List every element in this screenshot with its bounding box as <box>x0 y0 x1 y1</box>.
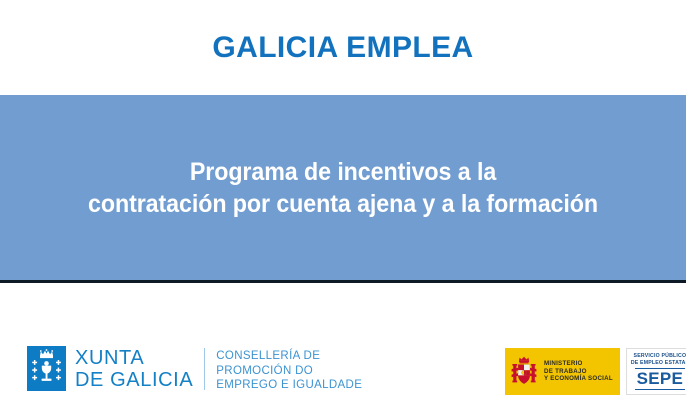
conselleria-line-3: EMPREGO E IGUALDADE <box>216 378 362 393</box>
xunta-wordmark-line-1: XUNTA <box>75 348 193 368</box>
spain-coat-of-arms-icon <box>510 355 538 389</box>
xunta-de-galicia-logo: XUNTA DE GALICIA CONSELLERÍA DE PROMOCIÓ… <box>27 346 362 393</box>
ministerio-line-1: MINISTERIO <box>544 360 613 368</box>
conselleria-line-1: CONSELLERÍA DE <box>216 349 362 364</box>
sepe-logo: SERVICIO PÚBLICO DE EMPLEO ESTATAL SEPE <box>626 348 686 395</box>
banner-text-block: Programa de incentivos a la contratación… <box>24 156 662 220</box>
sepe-subtitle-line-1: SERVICIO PÚBLICO <box>631 353 686 359</box>
xunta-wordmark-line-2: DE GALICIA <box>75 370 193 390</box>
conselleria-line-2: PROMOCIÓN DO <box>216 364 362 379</box>
government-logos: MINISTERIO DE TRABAJO Y ECONOMÍA SOCIAL … <box>505 348 686 395</box>
galicia-coat-of-arms-icon <box>27 346 66 391</box>
ministerio-line-3: Y ECONOMÍA SOCIAL <box>544 375 613 383</box>
page-header: GALICIA EMPLEA <box>0 0 686 95</box>
page-title: GALICIA EMPLEA <box>212 31 473 65</box>
sepe-subtitle-line-2: DE EMPLEO ESTATAL <box>631 360 686 366</box>
program-banner: Programa de incentivos a la contratación… <box>0 95 686 283</box>
footer-logos: XUNTA DE GALICIA CONSELLERÍA DE PROMOCIÓ… <box>0 283 686 410</box>
banner-line-2: contratación por cuenta ajena y a la for… <box>24 188 662 220</box>
conselleria-block: CONSELLERÍA DE PROMOCIÓN DO EMPREGO E IG… <box>216 346 362 393</box>
ministerio-wordmark: MINISTERIO DE TRABAJO Y ECONOMÍA SOCIAL <box>544 360 613 383</box>
xunta-wordmark: XUNTA DE GALICIA <box>75 346 193 391</box>
ministerio-logo: MINISTERIO DE TRABAJO Y ECONOMÍA SOCIAL <box>505 348 620 395</box>
banner-line-1: Programa de incentivos a la <box>24 156 662 188</box>
logo-divider <box>204 348 205 390</box>
sepe-acronym: SEPE <box>635 368 686 390</box>
sepe-subtitle: SERVICIO PÚBLICO DE EMPLEO ESTATAL <box>631 353 686 365</box>
